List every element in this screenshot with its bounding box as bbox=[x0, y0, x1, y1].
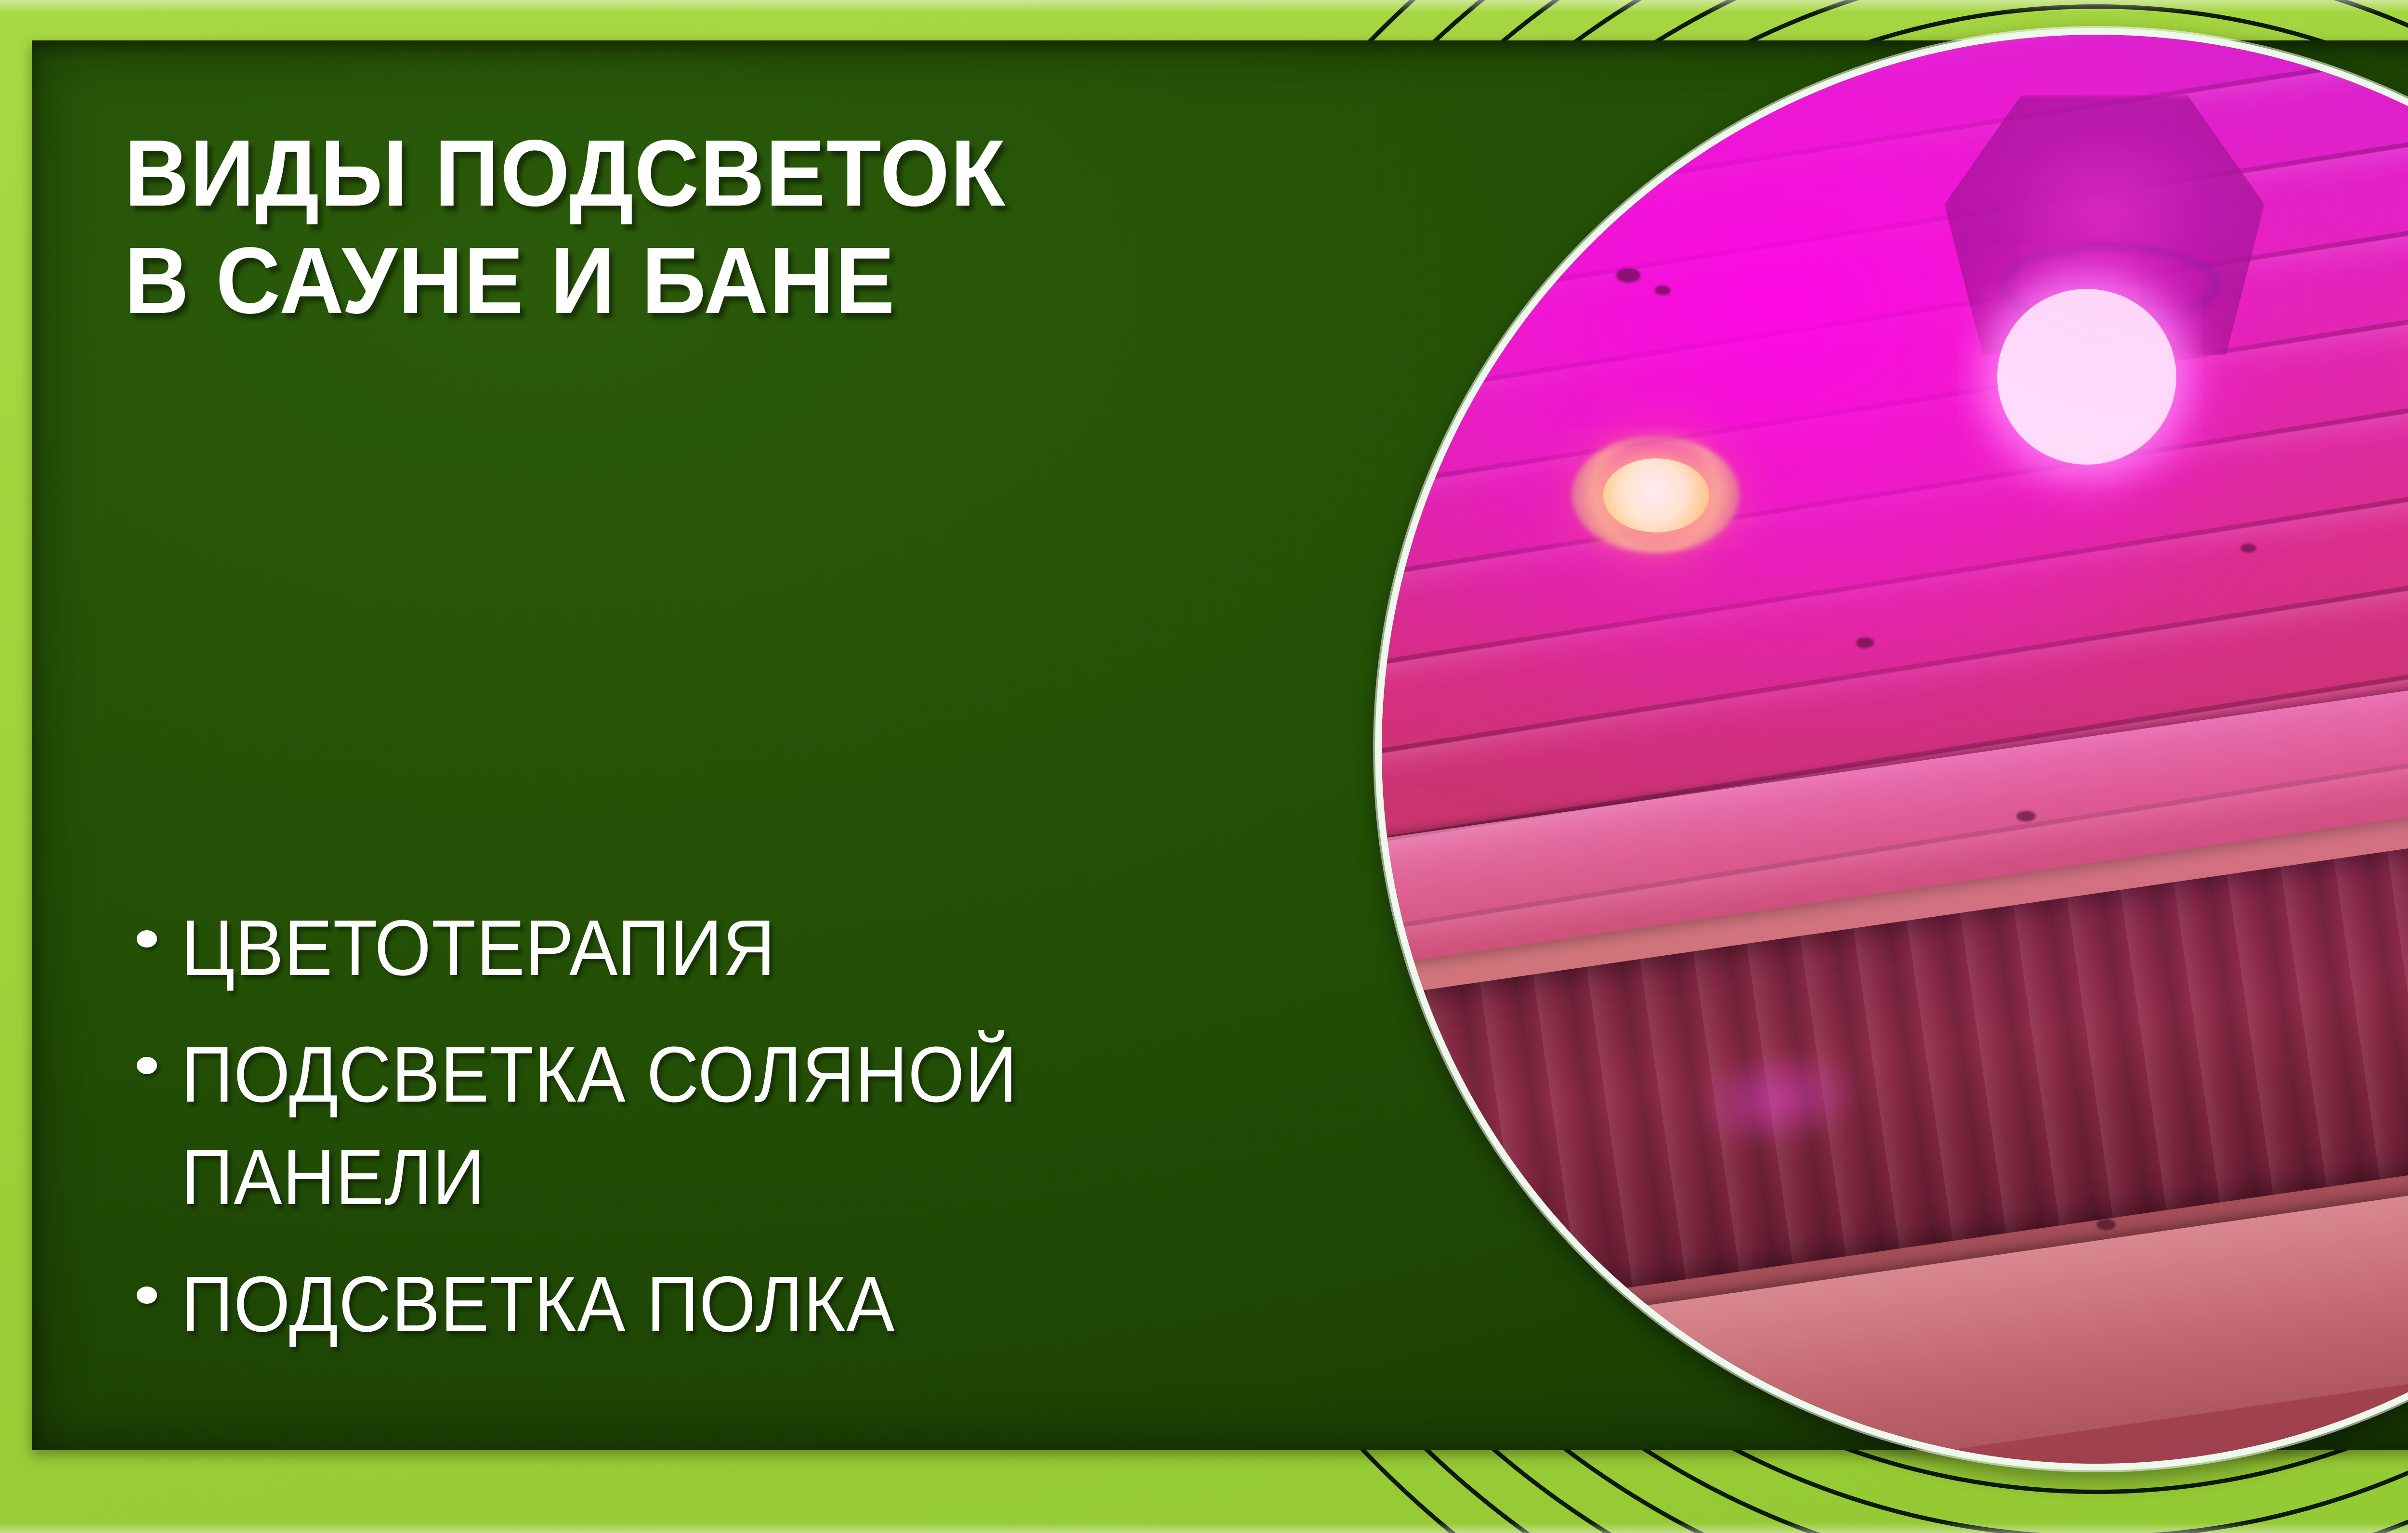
wood-knot-icon bbox=[2016, 811, 2036, 822]
list-item-label: ПОДСВЕТКА СОЛЯНОЙ ПАНЕЛИ bbox=[181, 1030, 1018, 1221]
sauna-photo-circle bbox=[1375, 28, 2408, 1470]
salt-panel-glow bbox=[1685, 1039, 1872, 1160]
wood-knot-icon bbox=[1856, 637, 1874, 648]
list-item-label: ЦВЕТОТЕРАПИЯ bbox=[181, 904, 776, 992]
sauna-photo bbox=[1382, 35, 2408, 1464]
recessed-spotlight-left bbox=[1603, 458, 1709, 532]
bullet-dot-icon bbox=[137, 1057, 157, 1074]
list-item-label: ПОДСВЕТКА ПОЛКА bbox=[181, 1260, 895, 1348]
list-item: ЦВЕТОТЕРАПИЯ bbox=[124, 896, 1241, 999]
wood-knot-icon bbox=[1655, 286, 1671, 295]
bullet-dot-icon bbox=[137, 930, 157, 948]
list-item: ПОДСВЕТКА ПОЛКА bbox=[124, 1253, 1241, 1355]
bullet-dot-icon bbox=[137, 1286, 157, 1304]
page-title: ВИДЫ ПОДСВЕТОК В САУНЕ И БАНЕ bbox=[124, 119, 1259, 335]
wood-knot-icon bbox=[1616, 268, 1640, 282]
ceiling-light-globe bbox=[1997, 289, 2176, 465]
sauna-scene bbox=[1382, 35, 2408, 1464]
feature-list: ЦВЕТОТЕРАПИЯ ПОДСВЕТКА СОЛЯНОЙ ПАНЕЛИ ПО… bbox=[124, 896, 1338, 1379]
poster-canvas: ВИДЫ ПОДСВЕТОК В САУНЕ И БАНЕ ЦВЕТОТЕРАП… bbox=[0, 0, 2408, 1533]
list-item: ПОДСВЕТКА СОЛЯНОЙ ПАНЕЛИ bbox=[124, 1023, 1241, 1228]
